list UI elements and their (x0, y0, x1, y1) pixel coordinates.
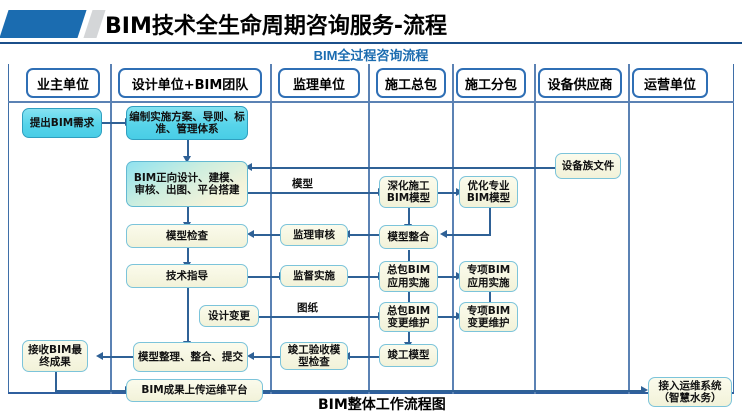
lane-divider-4 (452, 64, 454, 394)
edge-guide-to-consolidate (187, 287, 189, 343)
lane-header-design-bim[interactable]: 设计单位+BIM团队 (118, 68, 262, 98)
edge-family-feedback-line (250, 167, 544, 169)
brand-logo-slash (83, 10, 105, 38)
edge-guide-to-supervise (248, 276, 280, 278)
node-upload-bim-result-platform[interactable]: BIM成果上传运维平台 (126, 379, 263, 402)
edge-upload-to-ops (263, 390, 643, 392)
node-model-integration[interactable]: 模型整合 (379, 225, 438, 249)
lane-header-supervision[interactable]: 监理单位 (278, 68, 360, 98)
node-as-built-model[interactable]: 竣工模型 (379, 344, 438, 367)
node-completion-acceptance-model-check[interactable]: 竣工验收模型检查 (280, 342, 348, 370)
node-special-bim-change-maintenance[interactable]: 专项BIM变更维护 (459, 302, 518, 332)
edge-review-to-check-arrow (247, 230, 254, 238)
edge-deepen-to-optimize (438, 192, 458, 194)
flowchart-page: BIM技术全生命周期咨询服务-流程 BIM全过程咨询流程 业主单位 设计单位+B… (0, 0, 742, 414)
edge-integrate-to-review (348, 234, 380, 236)
lane-divider-5 (534, 64, 536, 394)
node-formulate-plan-standards[interactable]: 编制实施方案、导则、标准、管理体系 (126, 106, 248, 140)
lane-header-subcontractor[interactable]: 施工分包 (456, 68, 526, 98)
lane-header-general-contractor[interactable]: 施工总包 (376, 68, 446, 98)
node-receive-final-bim-result[interactable]: 接收BIM最终成果 (22, 340, 88, 372)
lane-header-owner[interactable]: 业主单位 (26, 68, 100, 98)
lane-divider-3 (368, 64, 370, 394)
edge-acceptance-to-consolidate (252, 356, 280, 358)
edge-plan-to-design (187, 138, 189, 158)
edge-need-to-plan (101, 122, 126, 124)
edge-consolidate-to-receive (101, 356, 133, 358)
lane-header-separator (8, 101, 734, 103)
edge-label-model: 模型 (292, 176, 313, 191)
edge-drawing-to-change (259, 316, 379, 318)
node-access-ops-system[interactable]: 接入运维系统（智慧水务） (648, 377, 732, 407)
page-subtitle: BIM全过程咨询流程 (0, 45, 742, 64)
edge-asbuilt-to-acceptance (348, 356, 380, 358)
node-model-check[interactable]: 模型检查 (126, 224, 248, 248)
page-title: BIM技术全生命周期咨询服务-流程 (105, 8, 447, 40)
edge-receive-to-upload (55, 390, 126, 392)
edge-receive-down (55, 370, 57, 392)
edge-consolidate-to-receive-arrow (96, 352, 103, 360)
node-bim-forward-design[interactable]: BIM正向设计、建模、审核、出图、平台搭建 (126, 161, 248, 207)
lane-divider-1 (110, 64, 112, 394)
edge-optimize-to-integrate-arrow (440, 230, 447, 238)
node-gc-bim-change-maintenance[interactable]: 总包BIM变更维护 (379, 302, 438, 332)
edge-supervise-to-apply (348, 276, 380, 278)
node-supervise-implementation[interactable]: 监督实施 (280, 265, 348, 287)
diagram-footer-title: BIM整体工作流程图 (318, 394, 446, 414)
lane-header-operations[interactable]: 运营单位 (632, 68, 708, 98)
node-equipment-family-file[interactable]: 设备族文件 (555, 153, 621, 179)
node-optimize-professional-bim-model[interactable]: 优化专业BIM模型 (459, 176, 518, 208)
edge-change-to-special-change (438, 316, 458, 318)
node-deepen-construction-bim-model[interactable]: 深化施工BIM模型 (379, 176, 438, 208)
lane-header-equipment-supplier[interactable]: 设备供应商 (538, 68, 622, 98)
edge-optimize-down (489, 208, 491, 236)
node-supervision-review[interactable]: 监理审核 (280, 224, 348, 246)
lane-divider-2 (270, 64, 272, 394)
node-design-change[interactable]: 设计变更 (199, 305, 259, 327)
brand-logo-shape (0, 10, 87, 38)
node-technical-guidance[interactable]: 技术指导 (126, 264, 248, 288)
node-propose-bim-requirement[interactable]: 提出BIM需求 (22, 108, 102, 138)
node-gc-bim-application[interactable]: 总包BIM应用实施 (379, 261, 438, 292)
node-special-bim-application[interactable]: 专项BIM应用实施 (459, 261, 518, 292)
edge-acceptance-to-consolidate-arrow (247, 352, 254, 360)
node-model-arrange-integrate-submit[interactable]: 模型整理、整合、提交 (133, 342, 248, 372)
lane-divider-6 (628, 64, 630, 394)
header-divider (0, 42, 742, 44)
edge-model-to-deepen (248, 192, 379, 194)
edge-label-drawing: 图纸 (297, 300, 318, 315)
edge-review-to-check (252, 234, 280, 236)
edge-optimize-to-integrate (445, 234, 491, 236)
edge-upload-to-ops-arrow (641, 386, 648, 394)
edge-apply-to-special (438, 276, 458, 278)
swimlane-frame (8, 64, 734, 394)
